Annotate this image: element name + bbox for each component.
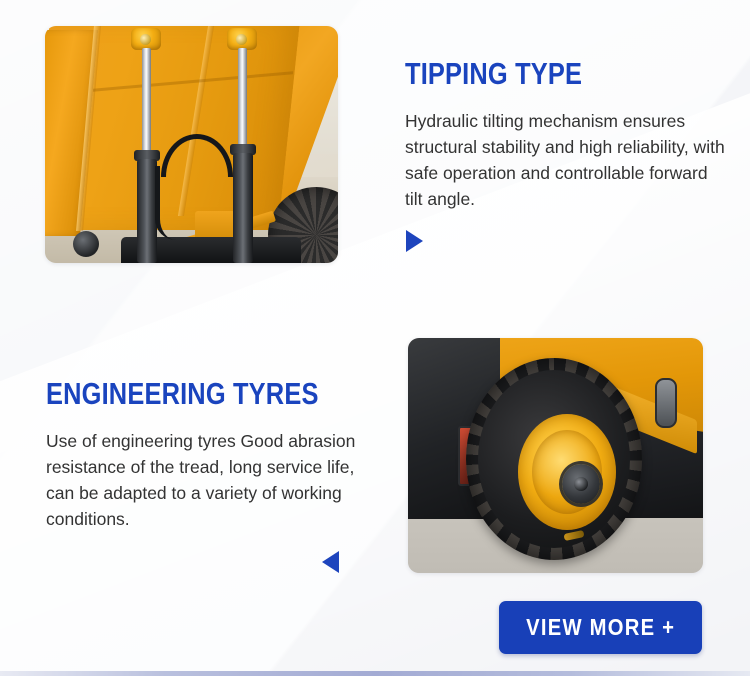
next-arrow-icon[interactable] [406, 230, 423, 252]
yellow-wheel-rim [518, 414, 616, 530]
tyre-sidewall [478, 370, 630, 548]
tipping-mechanism-photo [45, 26, 338, 263]
feature-panel: TIPPING TYPE Hydraulic tilting mechanism… [0, 0, 750, 676]
engineering-tyre-photo [408, 338, 703, 573]
prev-arrow-icon[interactable] [322, 551, 339, 573]
engineering-tyres-heading: ENGINEERING TYRES [46, 378, 319, 409]
valve-stem [563, 530, 584, 541]
tipping-type-heading: TIPPING TYPE [405, 58, 582, 89]
rim-inner-dish [532, 430, 602, 514]
engineering-tyres-image[interactable] [408, 338, 703, 573]
tipping-type-body: Hydraulic tilting mechanism ensures stru… [405, 108, 725, 212]
panel-latch [655, 378, 677, 428]
cylinder-pivot-right [227, 28, 257, 50]
cylinder-rod-left [142, 48, 151, 152]
cylinder-barrel-left [137, 159, 157, 263]
cylinder-rod-right [238, 48, 247, 146]
cylinder-barrel-right [233, 153, 253, 263]
bottom-divider [0, 671, 750, 676]
tyre-tread [466, 358, 642, 560]
cylinder-pivot-left [131, 28, 161, 50]
hub-cap [73, 231, 99, 257]
engineering-tyres-body: Use of engineering tyres Good abrasion r… [46, 428, 356, 532]
wheel-hub [562, 464, 600, 504]
view-more-button[interactable]: VIEW MORE + [499, 601, 702, 654]
view-more-label: VIEW MORE + [526, 614, 675, 641]
tipping-type-image[interactable] [45, 26, 338, 263]
hydraulic-hose-drop [155, 166, 176, 240]
